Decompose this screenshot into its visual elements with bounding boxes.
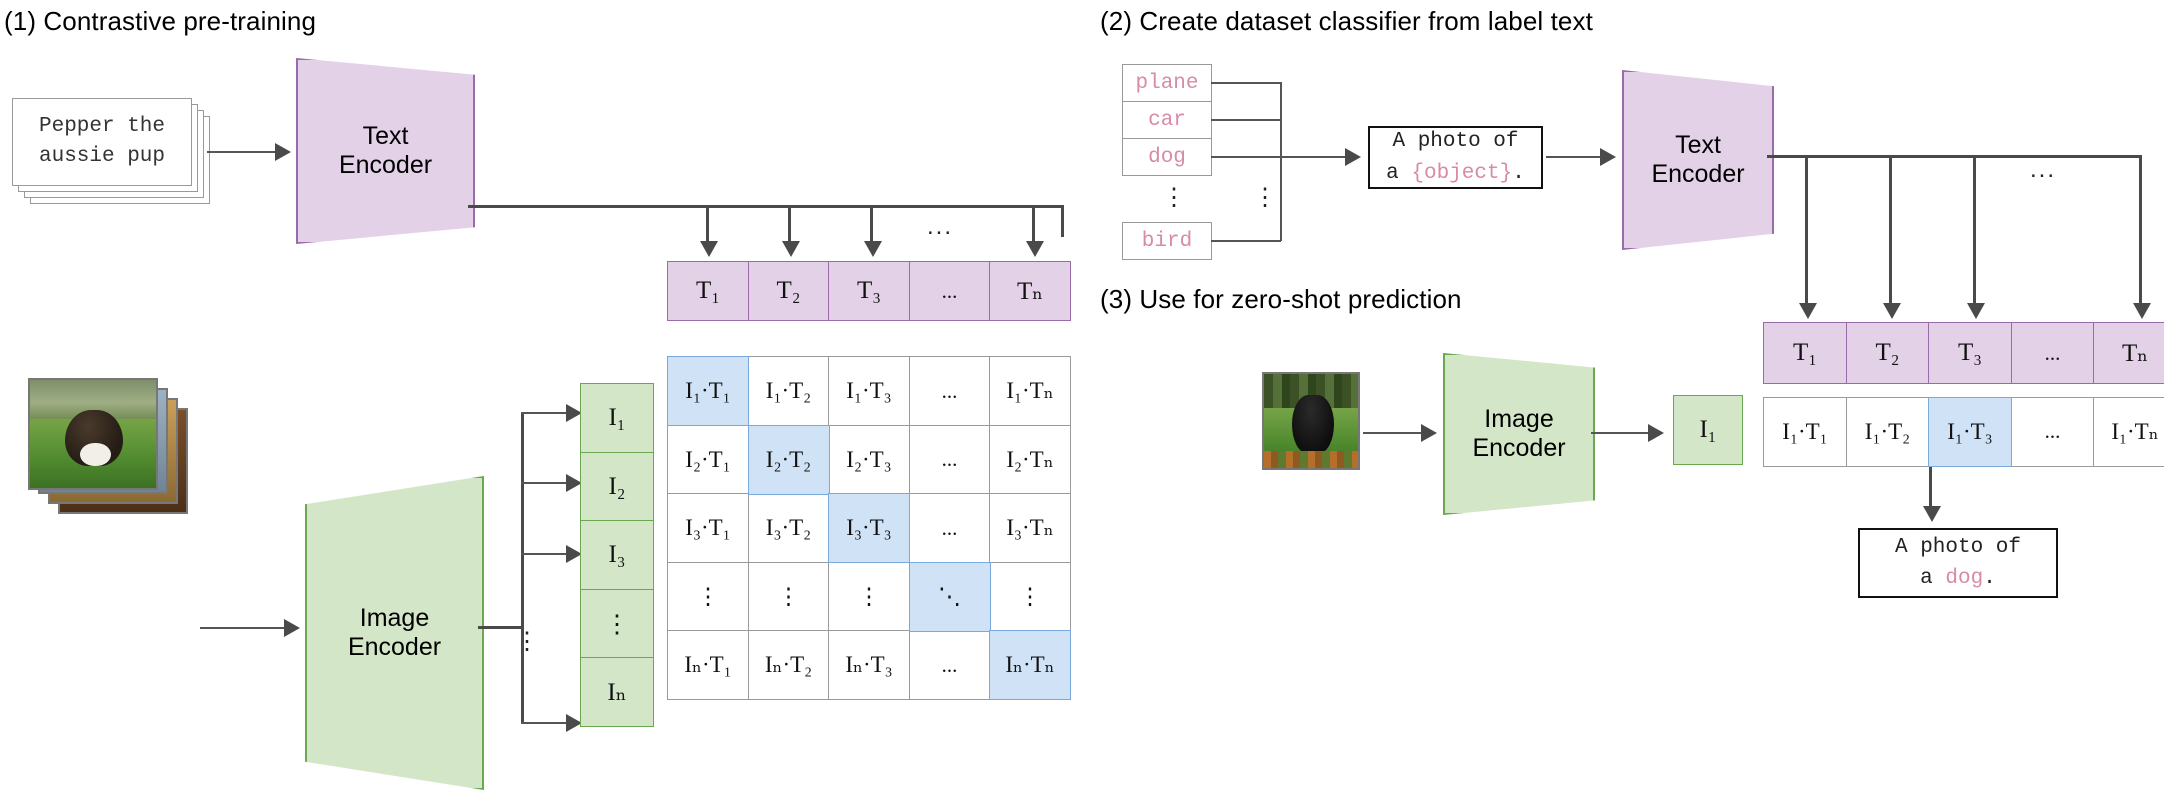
matrix-cell-3-3[interactable]: I₃·T₃ (828, 493, 910, 563)
zs-cell-n[interactable]: I₁·Tₙ (2093, 397, 2164, 467)
i-cell-2[interactable]: I₂ (580, 452, 654, 522)
t1-drop-head-2 (1799, 303, 1817, 319)
section-3-title: (3) Use for zero-shot prediction (1100, 284, 1462, 315)
tn-drop-line (1032, 205, 1035, 243)
t-cell-ellipsis: ... (909, 261, 991, 321)
prompt-line-1: A photo of (1392, 126, 1518, 158)
text-bus-2-horizontal (1767, 155, 2142, 158)
prompt-line2-suffix: . (1512, 162, 1525, 185)
t2-cell-2[interactable]: T₂ (1846, 322, 1930, 384)
class-label-vdots-left: ⋮ (1162, 186, 1186, 210)
matrix-cell-5-4: ... (909, 630, 991, 700)
prediction-line-2: a dog. (1920, 563, 1996, 595)
arrow-query-to-image-encoder-line (1363, 432, 1425, 434)
zs-cell-ellipsis: ... (2011, 397, 2095, 467)
matrix-cell-3-1[interactable]: I₃·T₁ (667, 493, 749, 563)
matrix-cell-5-5[interactable]: Iₙ·Tₙ (989, 630, 1071, 700)
image-encoder-1[interactable]: Image Encoder (305, 476, 484, 790)
text-encoder-1[interactable]: Text Encoder (296, 58, 475, 244)
prompt-template-box[interactable]: A photo of a {object}. (1368, 126, 1543, 189)
label-car-connector (1211, 119, 1281, 121)
image-stack-front-puppy (28, 378, 158, 490)
i-cell-1[interactable]: I₁ (580, 383, 654, 453)
matrix-cell-4-2: ⋮ (748, 562, 830, 632)
similarity-matrix: I₁·T₁ I₁·T₂ I₁·T₃ ... I₁·Tₙ I₂·T₁ I₂·T₂ … (667, 356, 1071, 700)
t-cell-n[interactable]: Tₙ (989, 261, 1071, 321)
image-bus-ellipsis: ⋮ (515, 630, 539, 654)
i3-arrow-line (521, 553, 569, 555)
t1-drop-head (700, 241, 718, 257)
image-bus-vertical (521, 412, 524, 724)
caption-line-1: Pepper the (39, 112, 165, 142)
section-1-title: (1) Contrastive pre-training (4, 6, 316, 37)
t1-drop-line (706, 205, 709, 243)
class-label-plane[interactable]: plane (1122, 64, 1212, 102)
text-encoder-2-line2: Encoder (1651, 160, 1744, 189)
i1-arrow-line (521, 412, 569, 414)
t-cell-3[interactable]: T₃ (828, 261, 910, 321)
class-label-dog[interactable]: dog (1122, 138, 1212, 176)
arrow-score-to-prediction-head (1923, 506, 1941, 522)
matrix-cell-4-1: ⋮ (667, 562, 749, 632)
t3-drop-line-2 (1973, 155, 1976, 305)
image-embedding-column-1: I₁ I₂ I₃ ⋮ Iₙ (580, 383, 654, 727)
arrow-prompt-to-text-encoder-line (1546, 156, 1604, 158)
prediction-line-1: A photo of (1895, 532, 2021, 564)
zeroshot-image-embedding[interactable]: I₁ (1673, 395, 1743, 465)
i-cell-n[interactable]: Iₙ (580, 657, 654, 727)
matrix-cell-1-4: ... (909, 356, 991, 426)
arrow-image-encoder-to-i1-head (1648, 424, 1664, 442)
image-encoder-2-line2: Encoder (1472, 434, 1565, 463)
i-cell-3[interactable]: I₃ (580, 520, 654, 590)
text-bus-ellipsis: ... (927, 215, 953, 239)
matrix-cell-1-2[interactable]: I₁·T₂ (748, 356, 830, 426)
tn-drop-head-2 (2133, 303, 2151, 319)
text-bus-right-drop (1061, 205, 1064, 237)
matrix-cell-2-5[interactable]: I₂·Tₙ (989, 425, 1071, 495)
arrow-images-to-image-encoder-head (284, 619, 300, 637)
matrix-cell-2-3[interactable]: I₂·T₃ (828, 425, 910, 495)
in-arrow-line (521, 722, 569, 724)
matrix-row: I₁·T₁ I₁·T₂ I₁·T₃ ... I₁·Tₙ (667, 356, 1071, 426)
matrix-row: I₂·T₁ I₂·T₂ I₂·T₃ ... I₂·Tₙ (667, 426, 1071, 495)
text-encoder-2[interactable]: Text Encoder (1622, 70, 1774, 250)
prediction-line2-prefix: a (1920, 567, 1945, 590)
matrix-cell-5-1[interactable]: Iₙ·T₁ (667, 630, 749, 700)
label-plane-connector (1211, 82, 1281, 84)
text-embedding-row-2: T₁ T₂ T₃ ... Tₙ (1763, 322, 2164, 384)
t-cell-1[interactable]: T₁ (667, 261, 749, 321)
text-encoder-1-line1: Text (363, 122, 409, 151)
t2-cell-n[interactable]: Tₙ (2093, 322, 2164, 384)
prediction-line2-suffix: . (1983, 567, 1996, 590)
t3-drop-head-2 (1967, 303, 1985, 319)
zs-cell-3[interactable]: I₁·T₃ (1928, 397, 2012, 467)
i-cell-ellipsis: ⋮ (580, 589, 654, 659)
text-bus-2-ellipsis: ... (2030, 158, 2056, 182)
t2-drop-head (782, 241, 800, 257)
caption-card-front: Pepper the aussie pup (12, 98, 192, 186)
prediction-output-box: A photo of a dog. (1858, 528, 2058, 598)
matrix-cell-2-4: ... (909, 425, 991, 495)
image-encoder-1-line2: Encoder (348, 633, 441, 662)
matrix-cell-3-4: ... (909, 493, 991, 563)
arrow-caption-to-text-encoder-head (275, 143, 291, 161)
arrow-prompt-to-text-encoder-head (1600, 148, 1616, 166)
t2-drop-head-2 (1883, 303, 1901, 319)
zeroshot-score-row: I₁·T₁ I₁·T₂ I₁·T₃ ... I₁·Tₙ (1763, 398, 2164, 467)
matrix-cell-5-2[interactable]: Iₙ·T₂ (748, 630, 830, 700)
matrix-cell-1-3[interactable]: I₁·T₃ (828, 356, 910, 426)
prompt-line2-prefix: a (1386, 162, 1411, 185)
matrix-cell-2-1[interactable]: I₂·T₁ (667, 425, 749, 495)
matrix-cell-3-5[interactable]: I₃·Tₙ (989, 493, 1071, 563)
matrix-cell-4-5: ⋮ (989, 562, 1071, 632)
matrix-row: I₃·T₁ I₃·T₂ I₃·T₃ ... I₃·Tₙ (667, 495, 1071, 564)
arrow-caption-to-text-encoder-line (207, 151, 277, 153)
matrix-row: ⋮ ⋮ ⋮ ⋱ ⋮ (667, 563, 1071, 632)
arrow-image-encoder-to-i1-line (1591, 432, 1653, 434)
text-embedding-row-1: T₁ T₂ T₃ ... Tₙ (667, 261, 1071, 321)
matrix-cell-4-4: ⋱ (909, 562, 991, 632)
t2-cell-ellipsis: ... (2011, 322, 2095, 384)
i2-arrow-line (521, 482, 569, 484)
text-encoder-2-line1: Text (1675, 131, 1721, 160)
matrix-cell-5-3[interactable]: Iₙ·T₃ (828, 630, 910, 700)
arrow-query-to-image-encoder-head (1421, 424, 1437, 442)
arrow-score-to-prediction-line (1929, 467, 1932, 508)
label-bird-connector (1211, 240, 1281, 242)
text-bus-horizontal (468, 205, 1064, 208)
arrow-images-to-image-encoder-line (200, 627, 286, 629)
tn-drop-line-2 (2139, 155, 2142, 305)
query-image (1262, 372, 1360, 470)
image-card-stack (28, 378, 198, 518)
class-label-car[interactable]: car (1122, 101, 1212, 139)
matrix-cell-1-1[interactable]: I₁·T₁ (667, 356, 749, 426)
image-encoder-1-line1: Image (360, 604, 429, 633)
caption-card-stack: Pepper the aussie pup (12, 98, 212, 208)
t3-drop-head (864, 241, 882, 257)
class-label-vdots-right: ⋮ (1253, 186, 1277, 210)
prediction-class-slot: dog (1945, 567, 1983, 590)
label-bracket-vertical (1280, 82, 1282, 241)
matrix-cell-1-5[interactable]: I₁·Tₙ (989, 356, 1071, 426)
t2-cell-3[interactable]: T₃ (1928, 322, 2012, 384)
t3-drop-line (870, 205, 873, 243)
caption-line-2: aussie pup (39, 142, 165, 172)
prompt-line-2: a {object}. (1386, 158, 1525, 190)
class-label-bird[interactable]: bird (1122, 222, 1212, 260)
section-2-title: (2) Create dataset classifier from label… (1100, 6, 1593, 37)
matrix-row: Iₙ·T₁ Iₙ·T₂ Iₙ·T₃ ... Iₙ·Tₙ (667, 632, 1071, 701)
image-encoder-2[interactable]: Image Encoder (1443, 353, 1595, 515)
t-cell-2[interactable]: T₂ (748, 261, 830, 321)
zs-cell-1[interactable]: I₁·T₁ (1763, 397, 1847, 467)
matrix-cell-4-3: ⋮ (828, 562, 910, 632)
text-encoder-1-line2: Encoder (339, 151, 432, 180)
tn-drop-head (1026, 241, 1044, 257)
prompt-object-slot: {object} (1411, 162, 1512, 185)
t1-drop-line-2 (1805, 155, 1808, 305)
matrix-cell-2-2[interactable]: I₂·T₂ (748, 425, 830, 495)
arrow-labels-to-prompt-head (1345, 148, 1361, 166)
t2-drop-line-2 (1889, 155, 1892, 305)
arrow-labels-to-prompt-line (1211, 156, 1351, 158)
image-encoder-2-line1: Image (1484, 405, 1553, 434)
t2-drop-line (788, 205, 791, 243)
matrix-cell-3-2[interactable]: I₃·T₂ (748, 493, 830, 563)
zs-cell-2[interactable]: I₁·T₂ (1846, 397, 1930, 467)
t2-cell-1[interactable]: T₁ (1763, 322, 1847, 384)
